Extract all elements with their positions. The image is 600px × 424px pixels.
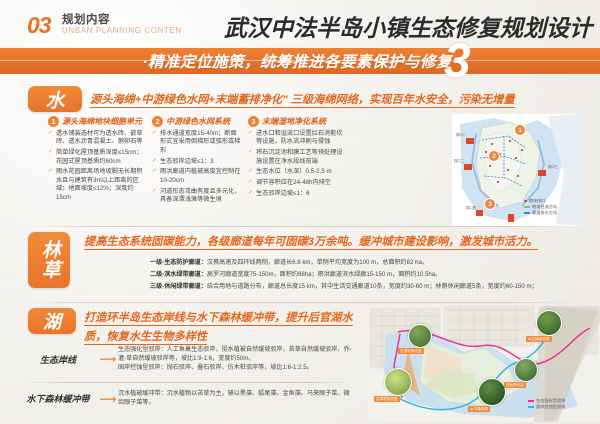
water-column-2-bullets: 排水通道宽度15-40m；断面形式宜采用倒梯形或弧形或梯形 生态驳岸边坡≤1：3… xyxy=(152,130,242,204)
lake-row-underwater-forest: 水下森林缓冲带 ⟶ 沉水植被缓冲带：沉水植物以苦草为主，辅以黑藻、狐尾藻、金鱼藻… xyxy=(18,390,353,408)
callout-photo-2 xyxy=(536,310,562,336)
lake-row-2-label: 水下森林缓冲带 xyxy=(18,392,98,405)
callout-photo-3 xyxy=(478,378,506,406)
section-water: 水 源头海绵+中游绿色水网+末端蓄排净化” 三级海绵网络，实现百年水安全，污染无… xyxy=(0,80,600,228)
water-column-2-number: 2 xyxy=(152,116,163,127)
list-item: 雨洪廊道内植被高度宜控制在10-20cm xyxy=(152,168,242,185)
legend-item: 固岸控蚀型驳岸 xyxy=(528,404,565,410)
section-title-en: UNBAN PLANNING CONTEN xyxy=(62,27,182,36)
water-column-2-title: 中游绿色水网系统 xyxy=(166,116,230,127)
section-title-cn: 规划内容 xyxy=(62,14,110,27)
forest-row-1-text: 汉蔡高速及四环线两侧，廊道长6.8 km，单侧平均宽度为100 m，总面积约82… xyxy=(207,259,428,266)
list-item: 调节容积应在24-48h内排空 xyxy=(248,179,343,187)
section-lead-forest: 提高生态系统固碳能力，各级廊道每年可固碳3万余吨。缓冲城市建设影响，激发城市活力… xyxy=(84,232,554,251)
list-item: 生态驳岸边坡≤1：3 xyxy=(152,158,242,166)
divider-forest-lake xyxy=(24,302,576,303)
svg-text:排口一: 排口一 xyxy=(456,132,467,137)
callout-label-2: 水生植被恢复 xyxy=(526,336,552,342)
list-item: 雨水花园距离场地坡脚无长期积水且与建筑有3m以上距离的区域；地面坡度≤12%；深… xyxy=(48,168,146,201)
water-column-3-bullets: 进水口和溢流口设置拦石消能坎等设施，防水流冲刷与侵蚀 将石沉淀池和膜工艺等预处理… xyxy=(248,130,343,199)
section-tag-water: 水 xyxy=(28,86,82,112)
list-item: 生态驳岸边坡≤1：6 xyxy=(248,190,343,198)
water-column-1-title: 源头海绵地块细胞单元 xyxy=(62,116,142,127)
water-column-3: 3 末端湿地净化系统 进水口和溢流口设置拦石消能坎等设施，防水流冲刷与侵蚀 将石… xyxy=(248,116,343,201)
arrow-right-icon: ⟶ xyxy=(98,353,118,365)
section-tag-lake: 湖 xyxy=(28,308,76,334)
svg-text:排口四: 排口四 xyxy=(466,205,477,210)
forest-row-1-label: 一级-生态防护廊道： xyxy=(150,259,207,266)
water-column-3-header: 3 末端湿地净化系统 xyxy=(248,116,343,127)
section-lead-lake: 打造环半岛生态岸线与水下森林缓冲带，提升后官湖水质，恢复水生生物多样性 xyxy=(84,308,364,346)
section-tag-forest: 林草 xyxy=(28,232,70,288)
list-item: 将石沉淀池和膜工艺等预处理设施设置在净水段线前端 xyxy=(248,149,343,166)
svg-text:排口三: 排口三 xyxy=(548,164,559,169)
legend-swatch-erosion-control xyxy=(528,406,534,408)
legend-swatch-outlet xyxy=(524,200,527,203)
callout-photo-4 xyxy=(514,358,538,382)
divider-water-forest xyxy=(24,226,576,227)
section-lead-water: 源头海绵+中游绿色水网+末端蓄排净化” 三级海绵网络，实现百年水安全，污染无增量 xyxy=(90,90,560,109)
list-item: 简单绿化屋顶基质深度≤15cm；花园式屋顶基质约60cm xyxy=(48,149,146,166)
callout-label-5: 苦草群落恢复 xyxy=(374,396,400,402)
callout-label-3: 水下森林带 xyxy=(468,406,490,412)
list-item: 进水口和溢流口设置拦石消能坎等设施，防水流冲刷与侵蚀 xyxy=(248,130,343,147)
lake-map-legend: 生态强化型驳岸 固岸控蚀型驳岸 xyxy=(528,398,565,410)
forest-row-3: 三级-休闲绿带廊道：结合用地与道路分布，廊道总长度15 km，其中生活交通廊道1… xyxy=(150,283,580,291)
list-item: 排水通道宽度15-40m；断面形式宜采用倒梯形或弧形或梯形 xyxy=(152,130,242,155)
legend-swatch-eco-shoreline xyxy=(528,400,534,402)
callout-photo-1 xyxy=(408,324,432,348)
forest-row-3-label: 三级-休闲绿带廊道： xyxy=(150,283,207,290)
list-item: 透水铺装选材可为透水砖、嵌草砖、透水沥青混凝土、鹅卵石等 xyxy=(48,130,146,147)
banner-headline: ·精准定位施策，统筹推进各要素保护与修复· xyxy=(0,48,600,74)
water-system-map: 排口一 排口二 排口三 排口四 1 2 3 地块排口 地块径流方向 xyxy=(452,114,584,226)
lake-shoreline-map: 生态驳岸改造 水生植被恢复 水下森林带 湿地净化区 苦草群落恢复 生态强化型驳岸… xyxy=(368,306,600,422)
water-map-legend: 地块排口 地块径流方向 廊道排水方向 xyxy=(524,198,557,216)
water-map-marker-3: 3 xyxy=(484,198,496,210)
forest-rows: 一级-生态防护廊道：汉蔡高速及四环线两侧，廊道长6.8 km，单侧平均宽度为10… xyxy=(150,259,580,295)
legend-swatch-runoff xyxy=(524,206,530,208)
water-map-marker-1: 1 xyxy=(514,124,526,136)
callout-label-1: 生态驳岸改造 xyxy=(398,348,424,354)
forest-row-2-text: 高罗河廊道宽度75-150m，面积约88ha；雨洪廊道滨水绿廊15-150 m，… xyxy=(207,271,441,278)
divider-lake-rows xyxy=(24,382,354,383)
water-column-2: 2 中游绿色水网系统 排水通道宽度15-40m；断面形式宜采用倒梯形或弧形或梯形… xyxy=(152,116,242,207)
water-column-3-number: 3 xyxy=(248,116,259,127)
lake-row-1-text: 生态强化型驳岸：人工鱼巢生态驳岸，挺水植被自然缓坡驳岸，苔草自然缓坡驳岸、乔-灌… xyxy=(118,346,353,372)
legend-item: 廊道排水方向 xyxy=(524,210,557,216)
svg-text:排口二: 排口二 xyxy=(454,158,465,163)
section-lake: 湖 打造环半岛生态岸线与水下森林缓冲带，提升后官湖水质，恢复水生生物多样性 生态… xyxy=(0,306,600,424)
callout-label-4: 湿地净化区 xyxy=(504,382,526,388)
section-number: 03 xyxy=(27,14,51,37)
forest-row-1: 一级-生态防护廊道：汉蔡高速及四环线两侧，廊道长6.8 km，单侧平均宽度为10… xyxy=(150,259,580,267)
lake-row-2-text: 沉水植被缓冲带：沉水植物以苦草为主，辅以黑藻、狐尾藻、金鱼藻、马来眼子菜、微齿眼… xyxy=(118,390,353,408)
lake-row-shoreline: 生态岸线 ⟶ 生态强化型驳岸：人工鱼巢生态驳岸，挺水植被自然缓坡驳岸，苔草自然缓… xyxy=(18,346,353,372)
lake-row-1-label: 生态岸线 xyxy=(18,353,98,366)
page-header: 03 规划内容 UNBAN PLANNING CONTEN 武汉中法半岛小镇生态… xyxy=(0,0,600,46)
legend-swatch-drainage xyxy=(524,212,530,214)
list-item: 生态水位（水深）0.5-2.5 m xyxy=(248,168,343,176)
list-item: 河道形态弯曲有度且多元化，具备深潭浅滩等微生境 xyxy=(152,188,242,205)
arrow-right-icon: ⟶ xyxy=(98,393,118,405)
water-map-marker-2: 2 xyxy=(488,150,500,162)
water-column-3-title: 末端湿地净化系统 xyxy=(262,116,326,127)
page-title: 武汉中法半岛小镇生态修复规划设计 xyxy=(224,9,592,43)
forest-row-2-label: 二级-滨水绿带廊道： xyxy=(150,271,207,278)
section-forest: 林草 提高生态系统固碳能力，各级廊道每年可固碳3万余吨。缓冲城市建设影响，激发城… xyxy=(0,230,600,304)
water-column-1-number: 1 xyxy=(48,116,59,127)
water-column-1: 1 源头海绵地块细胞单元 透水铺装选材可为透水砖、嵌草砖、透水沥青混凝土、鹅卵石… xyxy=(48,116,146,204)
water-column-1-bullets: 透水铺装选材可为透水砖、嵌草砖、透水沥青混凝土、鹅卵石等 简单绿化屋顶基质深度≤… xyxy=(48,130,146,202)
forest-row-2: 二级-滨水绿带廊道：高罗河廊道宽度75-150m，面积约88ha；雨洪廊道滨水绿… xyxy=(150,271,580,279)
forest-row-3-text: 结合用地与道路分布，廊道总长度15 km，其中生活交通廊道10条，宽度约30-6… xyxy=(207,283,538,290)
water-column-2-header: 2 中游绿色水网系统 xyxy=(152,116,242,127)
callout-photo-5 xyxy=(384,368,412,396)
poster-page: 03 规划内容 UNBAN PLANNING CONTEN 武汉中法半岛小镇生态… xyxy=(0,0,600,424)
water-column-1-header: 1 源头海绵地块细胞单元 xyxy=(48,116,146,127)
